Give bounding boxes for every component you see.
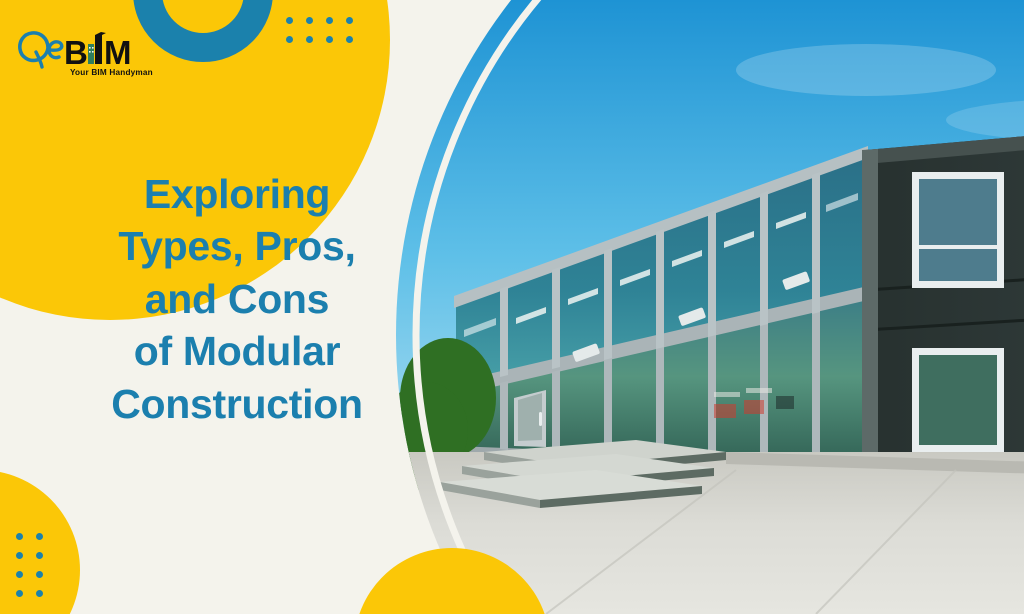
dot bbox=[36, 571, 43, 578]
dot bbox=[346, 36, 353, 43]
dot bbox=[306, 36, 313, 43]
hero-photo bbox=[396, 0, 1024, 614]
logo-tagline-text: Your BIM Handyman bbox=[70, 68, 153, 77]
svg-text:B: B bbox=[64, 34, 87, 71]
dot bbox=[36, 590, 43, 597]
hero-photo-inner bbox=[396, 0, 1024, 614]
dot bbox=[16, 533, 23, 540]
dot bbox=[16, 590, 23, 597]
dot bbox=[16, 552, 23, 559]
title-line-3: and Cons bbox=[32, 273, 442, 325]
brand-logo[interactable]: B M Your BIM Handyman bbox=[18, 26, 163, 78]
title-line-2: Types, Pros, bbox=[32, 220, 442, 272]
dot bbox=[36, 552, 43, 559]
title-line-4: of Modular bbox=[32, 325, 442, 377]
dot bbox=[326, 17, 333, 24]
dot bbox=[36, 533, 43, 540]
dark-container-modules bbox=[862, 96, 1024, 470]
title-line-5: Construction bbox=[32, 378, 442, 430]
dot bbox=[306, 17, 313, 24]
page-title: Exploring Types, Pros, and Cons of Modul… bbox=[32, 168, 442, 430]
logo-qe-mark bbox=[20, 33, 62, 67]
dot bbox=[326, 36, 333, 43]
decor-dot-grid-top bbox=[286, 17, 366, 55]
svg-text:M: M bbox=[104, 34, 131, 71]
dot bbox=[346, 17, 353, 24]
dot bbox=[286, 17, 293, 24]
modular-building-illustration bbox=[396, 0, 1024, 614]
decor-dot-grid-bottom-left bbox=[16, 533, 56, 609]
title-line-1: Exploring bbox=[32, 168, 442, 220]
dot bbox=[286, 36, 293, 43]
dot bbox=[16, 571, 23, 578]
banner-canvas: B M Your BIM Handyman Exploring Types, P… bbox=[0, 0, 1024, 614]
entrance-door bbox=[514, 390, 546, 447]
